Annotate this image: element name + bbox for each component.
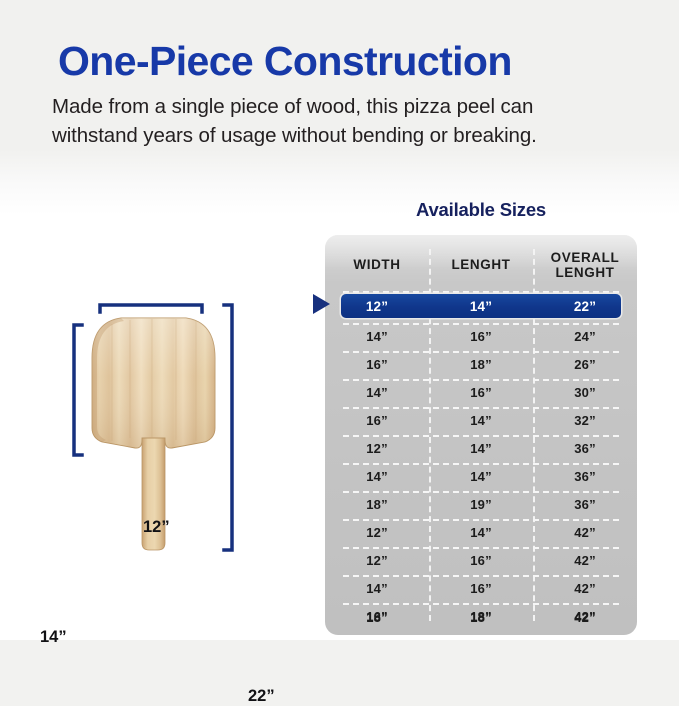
available-sizes-title: Available Sizes: [325, 199, 637, 221]
table-row[interactable]: 14” 16” 42”: [325, 576, 637, 602]
infographic-page: One-Piece Construction Made from a singl…: [0, 0, 679, 640]
row-divider: [343, 519, 619, 521]
table-row[interactable]: 14” 14” 36”: [325, 464, 637, 490]
row-divider: [343, 351, 619, 353]
cell-length: 16”: [429, 553, 533, 568]
cell-width: 12”: [325, 553, 429, 568]
width-dimension-label: 12”: [143, 518, 170, 537]
selected-row-pointer-icon: [313, 294, 330, 314]
cell-overall: 42”: [533, 610, 637, 625]
table-row[interactable]: 12” 14” 22”: [325, 293, 637, 319]
pizza-peel-illustration: 12” 14” 22”: [0, 250, 320, 640]
table-row[interactable]: 14” 16” 24”: [325, 324, 637, 350]
overall-length-dimension-label: 22”: [248, 687, 275, 706]
row-divider: [343, 463, 619, 465]
subtitle-line-2: withstand years of usage without bending…: [52, 121, 652, 150]
row-divider: [343, 575, 619, 577]
row-divider: [343, 379, 619, 381]
row-divider: [343, 407, 619, 409]
table-row[interactable]: 18” 19” 36”: [325, 492, 637, 518]
table-row[interactable]: 16” 14” 32”: [325, 408, 637, 434]
cell-width: 14”: [325, 469, 429, 484]
cell-width: 16”: [325, 357, 429, 372]
cell-length: 14”: [429, 441, 533, 456]
column-header-overall-line-2: LENGHT: [533, 265, 637, 280]
cell-overall: 36”: [533, 469, 637, 484]
table-row[interactable]: 12” 14” 42”: [325, 520, 637, 546]
row-divider: [343, 491, 619, 493]
table-row[interactable]: 16” 18” 26”: [325, 352, 637, 378]
cell-overall: 26”: [533, 357, 637, 372]
overall-length-dimension-bracket: [224, 305, 232, 550]
pizza-peel-drawing: [0, 250, 320, 640]
cell-length: 18”: [429, 610, 533, 625]
width-dimension-bracket: [100, 305, 202, 312]
cell-length: 16”: [429, 385, 533, 400]
cell-length: 14”: [429, 525, 533, 540]
table-row[interactable]: 12” 16” 42”: [325, 548, 637, 574]
cell-overall: 32”: [533, 413, 637, 428]
table-row[interactable]: 18” 18” 42”: [325, 604, 637, 630]
cell-overall: 36”: [533, 441, 637, 456]
cell-length: 16”: [429, 581, 533, 596]
cell-width: 16”: [325, 413, 429, 428]
cell-width: 12”: [325, 299, 429, 314]
cell-length: 18”: [429, 357, 533, 372]
table-header-row: WIDTH LENGHT OVERALL LENGHT: [325, 243, 637, 287]
table-row[interactable]: 12” 14” 36”: [325, 436, 637, 462]
available-sizes-panel: WIDTH LENGHT OVERALL LENGHT 12” 14” 22” …: [325, 235, 637, 635]
cell-width: 14”: [325, 385, 429, 400]
height-dimension-label: 14”: [40, 628, 67, 647]
column-header-width: WIDTH: [325, 257, 429, 272]
cell-overall: 36”: [533, 497, 637, 512]
cell-overall: 42”: [533, 581, 637, 596]
cell-length: 19”: [429, 497, 533, 512]
cell-width: 14”: [325, 581, 429, 596]
cell-overall: 42”: [533, 525, 637, 540]
row-divider: [343, 323, 619, 325]
cell-width: 18”: [325, 610, 429, 625]
cell-length: 14”: [429, 299, 533, 314]
peel-blade: [92, 318, 215, 448]
page-subtitle: Made from a single piece of wood, this p…: [52, 92, 652, 150]
row-divider: [343, 435, 619, 437]
column-header-length: LENGHT: [429, 257, 533, 272]
page-title: One-Piece Construction: [58, 40, 658, 83]
column-header-overall-line-1: OVERALL: [533, 250, 637, 265]
cell-overall: 30”: [533, 385, 637, 400]
cell-width: 12”: [325, 525, 429, 540]
height-dimension-bracket: [74, 325, 82, 455]
cell-overall: 24”: [533, 329, 637, 344]
sizes-table: WIDTH LENGHT OVERALL LENGHT 12” 14” 22” …: [325, 235, 637, 635]
cell-width: 14”: [325, 329, 429, 344]
cell-length: 14”: [429, 413, 533, 428]
cell-width: 12”: [325, 441, 429, 456]
cell-overall: 22”: [533, 299, 637, 314]
row-divider: [343, 547, 619, 549]
cell-overall: 42”: [533, 553, 637, 568]
cell-length: 14”: [429, 469, 533, 484]
subtitle-line-1: Made from a single piece of wood, this p…: [52, 92, 652, 121]
table-row[interactable]: 14” 16” 30”: [325, 380, 637, 406]
column-header-overall-length: OVERALL LENGHT: [533, 250, 637, 280]
cell-width: 18”: [325, 497, 429, 512]
cell-length: 16”: [429, 329, 533, 344]
